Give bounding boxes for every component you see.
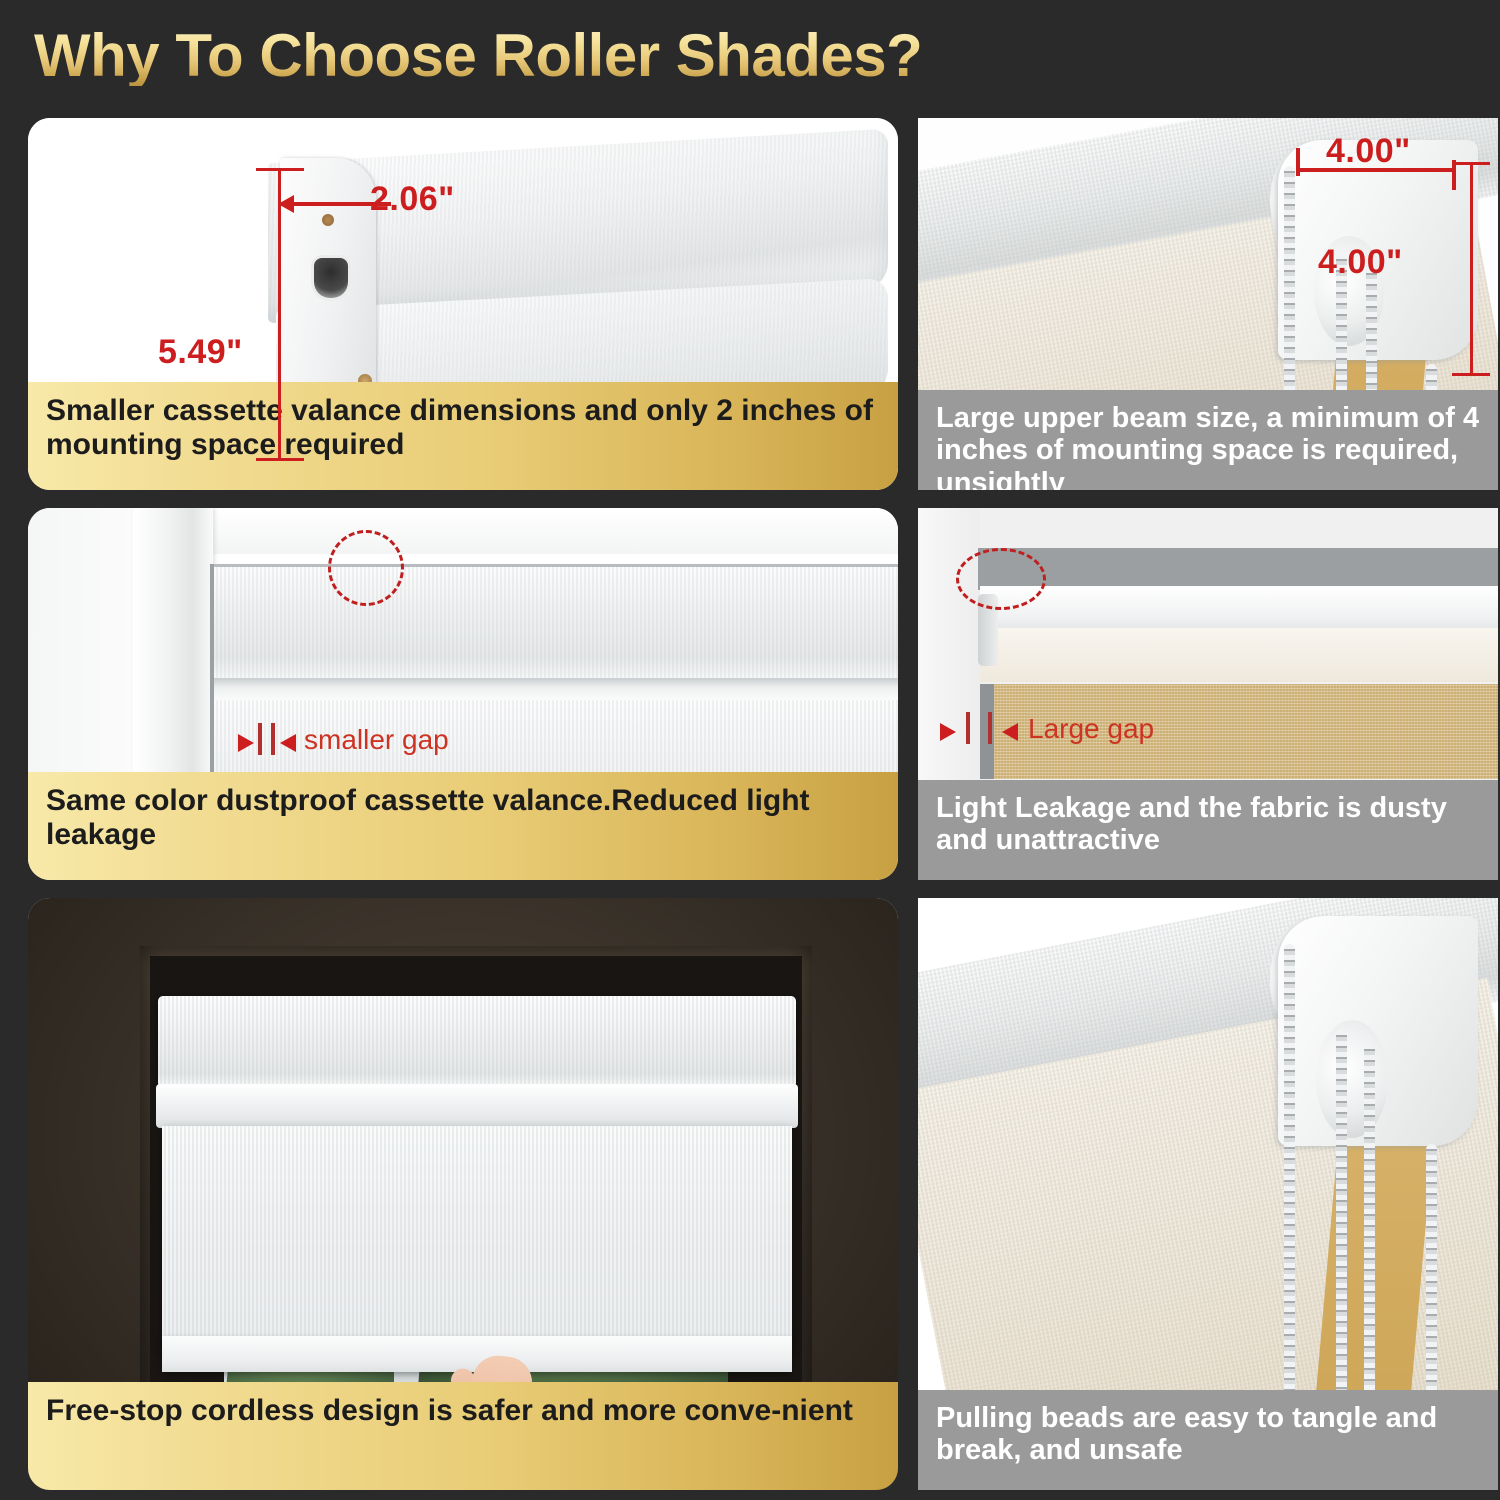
gap-tick-a [966,712,970,744]
gap-arrow-right [238,734,254,752]
dim-tick-top-400h [1452,162,1490,165]
dim-line-549 [278,170,281,460]
dimension-label-400-height: 4.00" [1318,243,1403,282]
dimension-label-549: 5.49" [158,333,243,372]
gap-tick-b [271,723,275,755]
panel-pro-dustproof-valance[interactable]: smaller gap Same color dustproof cassett… [28,508,898,880]
bead-chain-3 [1364,1044,1375,1444]
gap-arrow-left [280,734,296,752]
caption-pro-cassette-size: Smaller cassette valance dimensions and … [28,382,898,490]
caption-con-upper-beam-size: Large upper beam size, a minimum of 4 in… [918,390,1498,490]
comparison-row-3: Free-stop cordless design is safer and m… [28,898,1476,1490]
highlight-circle-smaller-gap [328,530,404,606]
panel-con-pulling-beads[interactable]: Pulling beads are easy to tangle and bre… [918,898,1498,1490]
dim-line-400h [1470,164,1473,376]
dim-tick-bottom-400h [1452,373,1490,376]
bead-chain-1 [1284,944,1295,1444]
bead-chain-2 [1336,1030,1347,1444]
panel-con-upper-beam-size[interactable]: 4.00" 4.00" Large upper beam size, a min… [918,118,1498,490]
panel-pro-cassette-size[interactable]: 2.06" 5.49" Smaller cassette valance dim… [28,118,898,490]
gap-label-large: Large gap [1028,713,1154,745]
highlight-circle-large-gap [956,548,1046,610]
dim-tick-top-549 [256,168,304,171]
caption-pro-cordless-design: Free-stop cordless design is safer and m… [28,1382,898,1490]
page-title: Why To Choose Roller Shades? [34,26,922,86]
panel-pro-cordless-design[interactable]: Free-stop cordless design is safer and m… [28,898,898,1490]
comparison-row-2: smaller gap Same color dustproof cassett… [28,508,1476,880]
gap-tick-a [258,723,262,755]
caption-con-light-leakage: Light Leakage and the fabric is dusty an… [918,780,1498,880]
comparison-row-1: 2.06" 5.49" Smaller cassette valance dim… [28,118,1476,490]
gap-label-smaller: smaller gap [304,724,449,756]
dimension-label-206: 2.06" [370,180,455,219]
gap-arrow-right [940,723,956,741]
gap-tick-b [988,712,992,744]
dimension-label-400-width: 4.00" [1326,132,1411,171]
caption-con-pulling-beads: Pulling beads are easy to tangle and bre… [918,1390,1498,1490]
caption-pro-dustproof-valance: Same color dustproof cassette valance.Re… [28,772,898,880]
dim-tick-bottom-549 [256,458,304,461]
panel-con-light-leakage[interactable]: Large gap Light Leakage and the fabric i… [918,508,1498,880]
gap-arrow-left [1002,723,1018,741]
comparison-grid: 2.06" 5.49" Smaller cassette valance dim… [28,118,1476,1488]
